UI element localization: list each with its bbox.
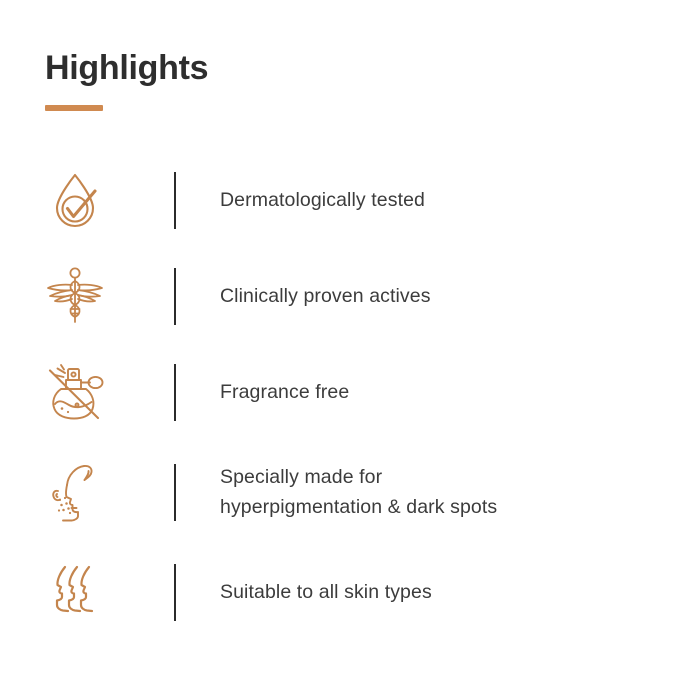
highlight-row: Specially made for hyperpigmentation & d… xyxy=(0,440,700,544)
header: Highlights xyxy=(45,50,208,111)
highlights-panel: Highlights Dermatologically tested xyxy=(0,0,700,700)
row-divider xyxy=(174,564,176,621)
row-divider xyxy=(174,172,176,229)
highlight-label-cell: Fragrance free xyxy=(200,377,700,407)
highlights-list: Dermatologically tested xyxy=(0,152,700,640)
title-accent-bar xyxy=(45,105,103,111)
row-divider-cell xyxy=(150,464,200,521)
face-dark-spots-icon xyxy=(45,461,105,523)
highlight-label: Suitable to all skin types xyxy=(220,577,700,607)
highlight-icon-cell xyxy=(0,363,150,421)
highlight-label: Dermatologically tested xyxy=(220,185,700,215)
highlight-row: Dermatologically tested xyxy=(0,152,700,248)
highlight-icon-cell xyxy=(0,564,150,620)
highlight-label: Specially made for hyperpigmentation & d… xyxy=(220,462,700,522)
three-face-profiles-icon xyxy=(49,564,101,620)
row-divider-cell xyxy=(150,268,200,325)
highlight-icon-cell xyxy=(0,461,150,523)
row-divider-cell xyxy=(150,564,200,621)
highlight-icon-cell xyxy=(0,170,150,230)
caduceus-icon xyxy=(46,265,104,327)
highlight-row: Clinically proven actives xyxy=(0,248,700,344)
highlight-row: Suitable to all skin types xyxy=(0,544,700,640)
row-divider xyxy=(174,364,176,421)
page-title: Highlights xyxy=(45,50,208,87)
row-divider-cell xyxy=(150,364,200,421)
highlight-label-cell: Specially made for hyperpigmentation & d… xyxy=(200,462,700,522)
row-divider-cell xyxy=(150,172,200,229)
row-divider xyxy=(174,268,176,325)
highlight-label-cell: Dermatologically tested xyxy=(200,185,700,215)
no-fragrance-bottle-icon xyxy=(45,363,105,421)
highlight-icon-cell xyxy=(0,265,150,327)
highlight-label: Fragrance free xyxy=(220,377,700,407)
highlight-label: Clinically proven actives xyxy=(220,281,700,311)
highlight-label-cell: Clinically proven actives xyxy=(200,281,700,311)
highlight-row: Fragrance free xyxy=(0,344,700,440)
water-drop-check-icon xyxy=(48,170,102,230)
row-divider xyxy=(174,464,176,521)
highlight-label-cell: Suitable to all skin types xyxy=(200,577,700,607)
